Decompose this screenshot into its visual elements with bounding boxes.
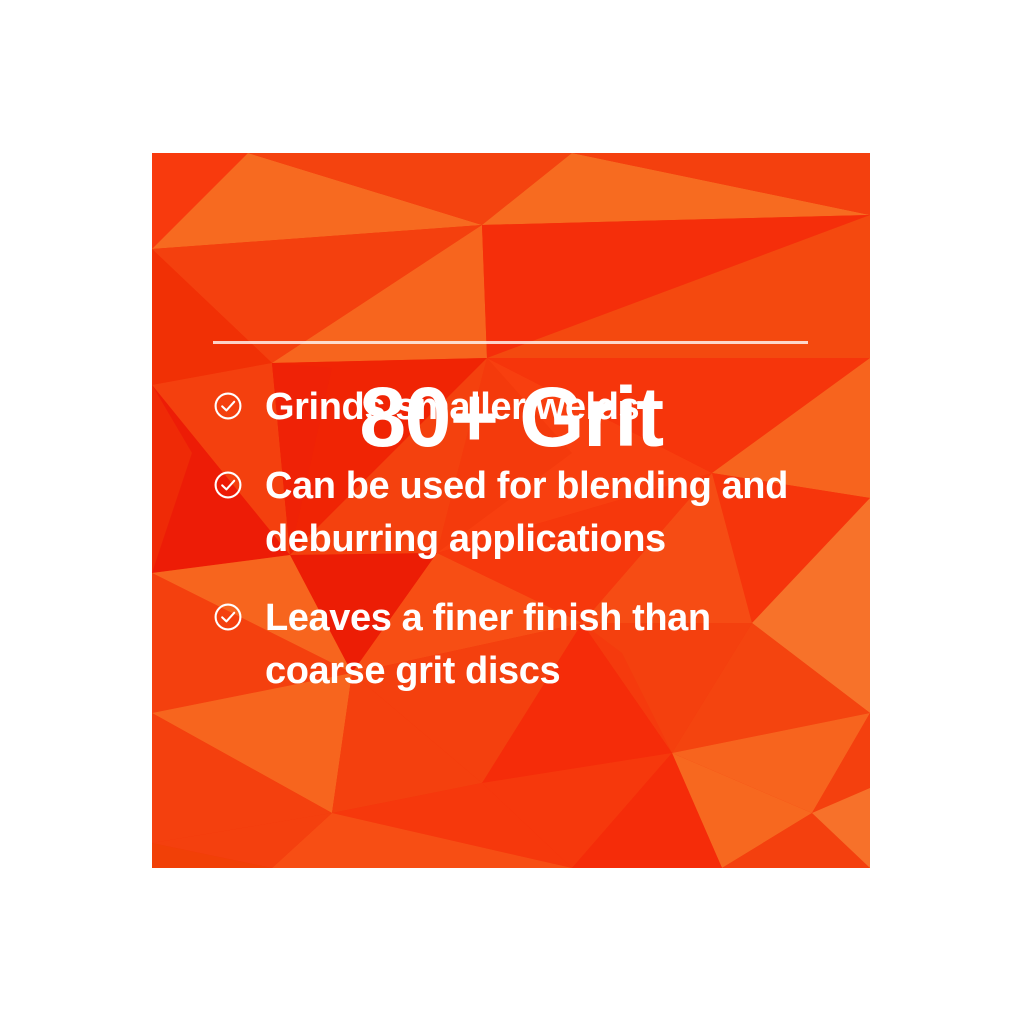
check-circle-icon (213, 602, 243, 632)
list-item: Grinds smaller welds (213, 381, 833, 434)
feature-list: Grinds smaller welds Can be used for ble… (213, 381, 833, 698)
card-content: 80+ Grit Grinds smaller welds Can be us (152, 153, 870, 868)
list-item-label: Leaves a finer finish than coarse grit d… (265, 592, 833, 698)
grit-feature-card: 80+ Grit Grinds smaller welds Can be us (152, 153, 870, 868)
title-divider (213, 341, 808, 344)
list-item-label: Grinds smaller welds (265, 381, 833, 434)
check-circle-icon (213, 470, 243, 500)
list-item: Can be used for blending and deburring a… (213, 460, 833, 566)
check-circle-icon (213, 391, 243, 421)
page-canvas: 80+ Grit Grinds smaller welds Can be us (0, 0, 1024, 1024)
list-item: Leaves a finer finish than coarse grit d… (213, 592, 833, 698)
list-item-label: Can be used for blending and deburring a… (265, 460, 833, 566)
